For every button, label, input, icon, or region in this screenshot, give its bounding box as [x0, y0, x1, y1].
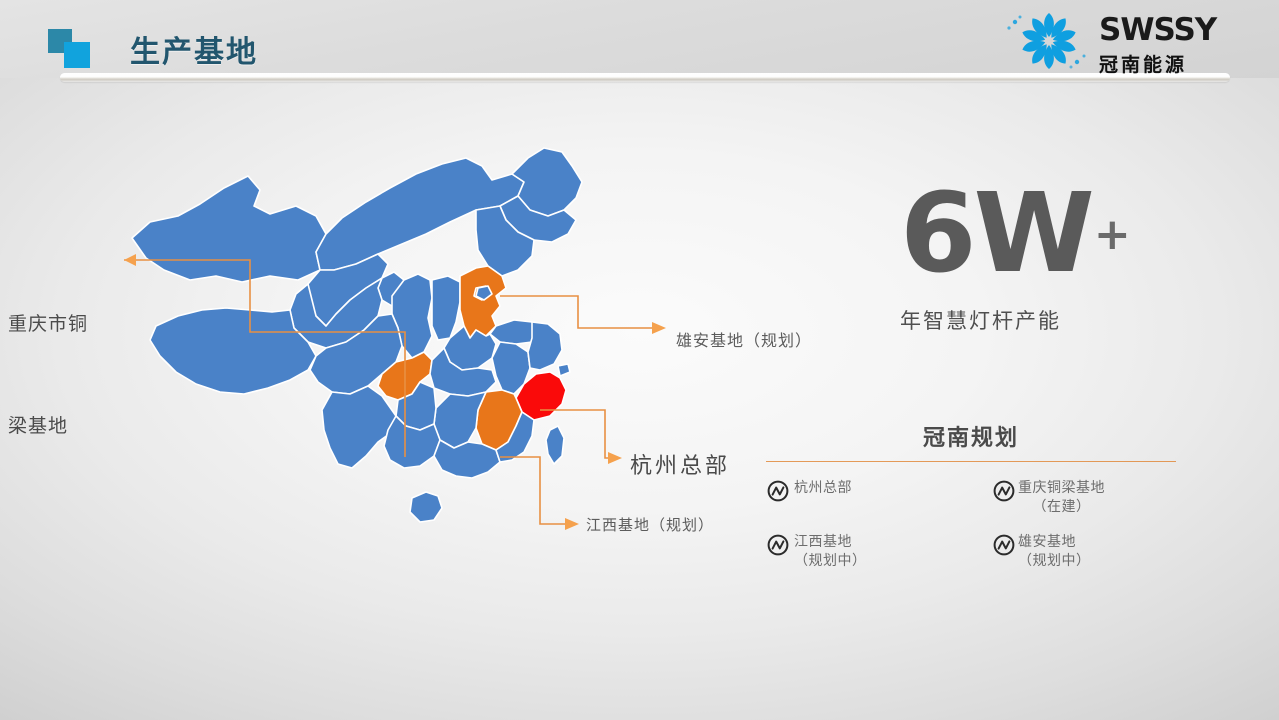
province-yunnan [322, 386, 396, 468]
legend-label-sub: （规划中） [794, 551, 867, 570]
slide-header: 生产基地 [0, 0, 1279, 92]
wave-circle-icon [766, 479, 790, 503]
map-label-hangzhou: 杭州总部 [630, 448, 730, 480]
capacity-number: 6W [900, 169, 1092, 297]
leader-arrow-xiongan [652, 322, 666, 334]
header-decor-square-light [64, 42, 90, 68]
wave-circle-icon [766, 533, 790, 557]
map-label-chongqing-line1: 重庆市铜 [8, 308, 88, 342]
legend-label-text: 江西基地 [794, 533, 852, 549]
legend-divider [766, 461, 1176, 462]
china-map-svg [120, 130, 640, 570]
legend-item-label: 江西基地 （规划中） [794, 532, 867, 570]
logo-wordmark: SWSSY 冠南能源 [1099, 12, 1216, 77]
legend-label-text: 重庆铜梁基地 [1018, 479, 1105, 495]
logo-text-cn: 冠南能源 [1099, 50, 1216, 77]
slide-canvas: 生产基地 [0, 0, 1279, 720]
province-tibet [150, 308, 316, 394]
plan-legend: 冠南规划 杭州总部 重庆铜梁基地 （在 [766, 420, 1176, 570]
header-divider-bar [60, 73, 1230, 82]
legend-label-sub: （规划中） [1018, 551, 1091, 570]
legend-item-hangzhou[interactable]: 杭州总部 [766, 478, 966, 516]
province-taiwan [546, 426, 564, 464]
map-label-jiangxi: 江西基地（规划） [586, 514, 714, 535]
legend-item-chongqing-tongliang[interactable]: 重庆铜梁基地 （在建） [976, 478, 1176, 516]
legend-items: 杭州总部 重庆铜梁基地 （在建） [766, 478, 1176, 570]
swssy-water-droplet-flower-logo-icon [1001, 10, 1097, 72]
legend-title: 冠南规划 [766, 420, 1176, 452]
page-title: 生产基地 [130, 27, 258, 71]
map-label-chongqing-line2: 梁基地 [8, 410, 88, 444]
china-map[interactable] [120, 130, 640, 570]
capacity-stat-block: 6W+ 年智慧灯杆产能 [900, 185, 1230, 335]
capacity-plus-sign: + [1094, 209, 1128, 260]
map-label-xiongan: 雄安基地（规划） [676, 327, 812, 351]
logo-text-en: SWSSY [1099, 12, 1216, 48]
legend-item-label: 重庆铜梁基地 （在建） [1018, 478, 1105, 516]
legend-label-text: 雄安基地 [1018, 533, 1076, 549]
province-xinjiang [132, 176, 326, 282]
legend-label-sub: （在建） [1018, 497, 1105, 516]
legend-item-label: 雄安基地 （规划中） [1018, 532, 1091, 570]
company-logo: SWSSY 冠南能源 [1001, 8, 1261, 74]
legend-item-jiangxi[interactable]: 江西基地 （规划中） [766, 532, 966, 570]
capacity-number-row: 6W+ [900, 185, 1230, 283]
legend-label-text: 杭州总部 [794, 479, 852, 495]
province-shanxi [432, 276, 460, 340]
legend-item-label: 杭州总部 [794, 478, 852, 497]
legend-item-xiongan[interactable]: 雄安基地 （规划中） [976, 532, 1176, 570]
wave-circle-icon [992, 533, 1016, 557]
capacity-caption: 年智慧灯杆产能 [900, 305, 1230, 335]
wave-circle-icon [992, 479, 1016, 503]
city-shanghai [558, 364, 570, 376]
province-jiangsu [528, 322, 562, 370]
map-label-chongqing: 重庆市铜 梁基地 [8, 240, 88, 512]
province-hainan [410, 492, 442, 522]
